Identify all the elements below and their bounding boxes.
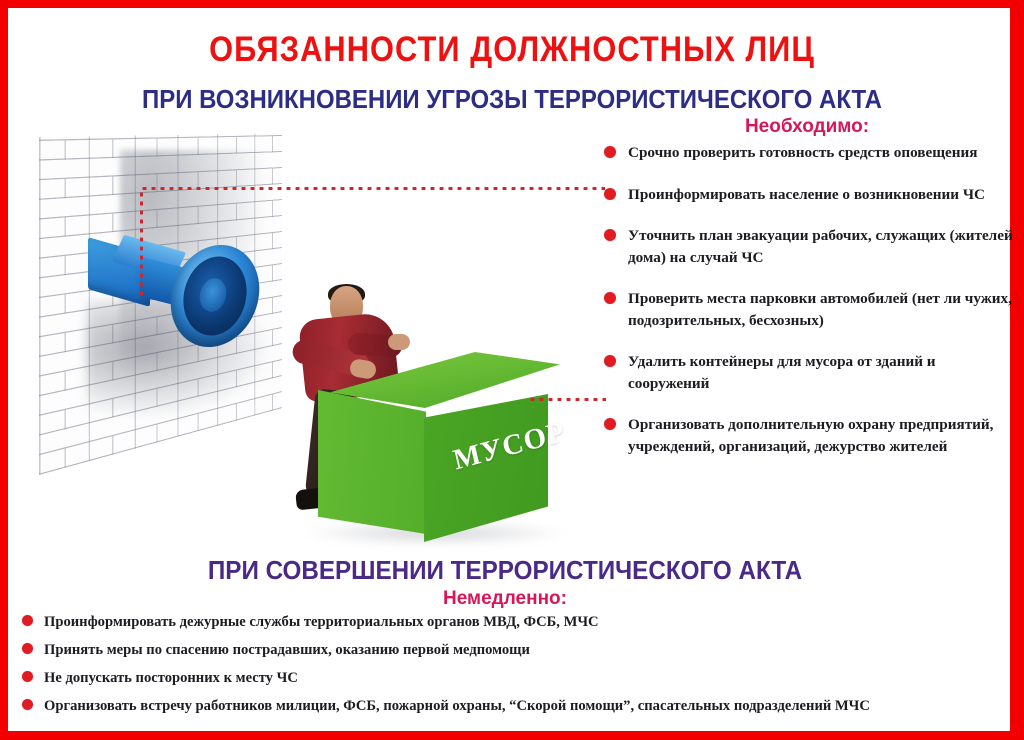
list-item: Удалить контейнеры для мусора от зданий … <box>604 351 1016 394</box>
frame-border-bottom <box>0 731 1024 740</box>
list-item-text: Проверить места парковки автомобилей (не… <box>628 288 1016 331</box>
bullet-dot-icon <box>22 699 33 710</box>
bullet-dot-icon <box>604 355 616 367</box>
bullet-dot-icon <box>604 146 616 158</box>
list-item: Не допускать посторонних к месту ЧС <box>22 668 1007 688</box>
kicker-nemedlenno: Немедленно: <box>0 588 1010 610</box>
bullet-dot-icon <box>604 229 616 241</box>
bullet-dot-icon <box>604 418 616 430</box>
bullet-dot-icon <box>22 643 33 654</box>
list-item-text: Проинформировать население о возникновен… <box>628 184 985 206</box>
leader-line-dumpster <box>528 398 606 401</box>
list-item-text: Принять меры по спасению пострадавших, о… <box>44 640 530 660</box>
list-item-text: Не допускать посторонних к месту ЧС <box>44 668 298 688</box>
frame-border-left <box>0 0 8 740</box>
list-item: Уточнить план эвакуации рабочих, служащи… <box>604 225 1016 268</box>
loudspeaker-icon <box>88 238 288 368</box>
list-item: Срочно проверить готовность средств опов… <box>604 142 1016 164</box>
list-item: Проинформировать население о возникновен… <box>604 184 1016 206</box>
bullet-dot-icon <box>22 671 33 682</box>
kicker-neobhodimo: Необходимо: <box>604 116 1010 138</box>
section-heading-attack: ПРИ СОВЕРШЕНИИ ТЕРРОРИСТИЧЕСКОГО АКТА <box>25 557 985 586</box>
list-item: Принять меры по спасению пострадавших, о… <box>22 640 1007 660</box>
bullet-dot-icon <box>22 615 33 626</box>
list-item-text: Проинформировать дежурные службы террито… <box>44 612 599 632</box>
leader-line-speaker <box>140 187 605 190</box>
bullet-dot-icon <box>604 188 616 200</box>
page-title: ОБЯЗАННОСТИ ДОЛЖНОСТНЫХ ЛИЦ <box>61 30 962 70</box>
list-item-text: Уточнить план эвакуации рабочих, служащи… <box>628 225 1016 268</box>
person-right-hand <box>388 334 410 350</box>
section-heading-threat: ПРИ ВОЗНИКНОВЕНИИ УГРОЗЫ ТЕРРОРИСТИЧЕСКО… <box>31 86 994 115</box>
threat-actions-list: Срочно проверить готовность средств опов… <box>604 142 1016 457</box>
list-item-text: Организовать дополнительную охрану предп… <box>628 414 1016 457</box>
dumpster-front-panel <box>318 390 426 534</box>
garbage-dumpster: МУСОР <box>310 352 560 534</box>
list-item: Проинформировать дежурные службы террито… <box>22 612 1007 632</box>
list-item: Организовать дополнительную охрану предп… <box>604 414 1016 457</box>
list-item: Проверить места парковки автомобилей (не… <box>604 288 1016 331</box>
list-item-text: Удалить контейнеры для мусора от зданий … <box>628 351 1016 394</box>
attack-actions-list: Проинформировать дежурные службы террито… <box>22 612 1007 724</box>
list-item-text: Организовать встречу работников милиции,… <box>44 696 870 716</box>
frame-border-top <box>0 0 1024 8</box>
list-item-text: Срочно проверить готовность средств опов… <box>628 142 978 164</box>
leader-line-speaker-vertical <box>140 190 143 300</box>
bullet-dot-icon <box>604 292 616 304</box>
list-item: Организовать встречу работников милиции,… <box>22 696 1007 716</box>
poster-canvas: ОБЯЗАННОСТИ ДОЛЖНОСТНЫХ ЛИЦ ПРИ ВОЗНИКНО… <box>0 0 1024 740</box>
